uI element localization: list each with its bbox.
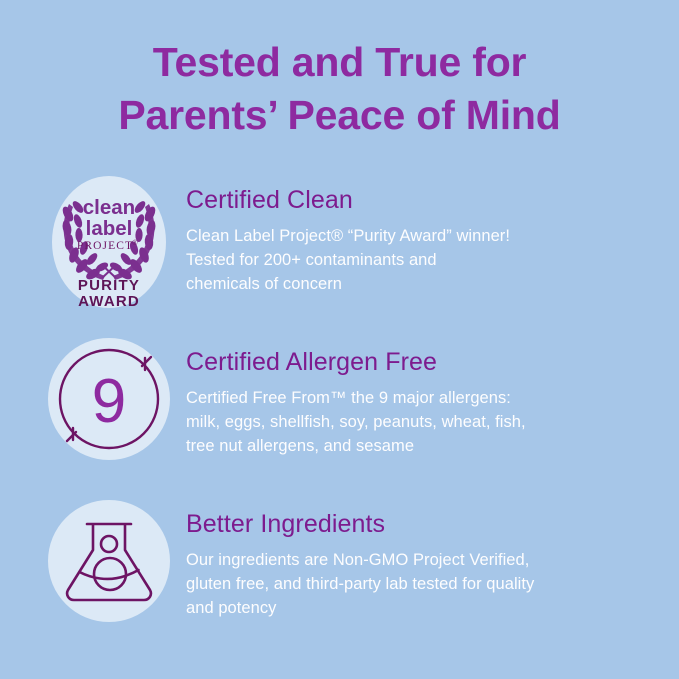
page-title: Tested and True for Parents’ Peace of Mi… [0,36,679,143]
badge-word-clean: clean [83,196,135,219]
feature-body-line: Certified Free From™ the 9 major allerge… [186,387,649,411]
nine-allergens-circle-icon: 9 [46,336,172,462]
feature-body-line: chemicals of concern [186,273,649,297]
feature-body-certified-allergen-free: Certified Free From™ the 9 major allerge… [186,387,649,459]
feature-icon-slot [44,494,174,624]
feature-body-line: and potency [186,597,649,621]
feature-list: clean label PROJECT ® PURITY AWARD Certi… [0,170,679,656]
feature-body-line: Tested for 200+ contaminants and [186,249,649,273]
feature-title-better-ingredients: Better Ingredients [186,510,649,539]
feature-icon-slot: clean label PROJECT ® PURITY AWARD [44,170,174,310]
page-title-line-2: Parents’ Peace of Mind [0,89,679,142]
feature-title-certified-clean: Certified Clean [186,186,649,215]
feature-body-line: tree nut allergens, and sesame [186,435,649,459]
feature-body-line: Clean Label Project® “Purity Award” winn… [186,225,649,249]
badge-word-label: label [86,217,133,240]
page-title-line-1: Tested and True for [0,36,679,89]
feature-body-line: Our ingredients are Non-GMO Project Veri… [186,549,649,573]
lab-flask-icon [46,498,172,624]
feature-title-certified-allergen-free: Certified Allergen Free [186,348,649,377]
clean-label-project-purity-award-badge-icon: clean label PROJECT ® PURITY AWARD [47,174,171,310]
feature-text-slot: Certified Allergen Free Certified Free F… [174,332,679,459]
feature-item-better-ingredients: Better Ingredients Our ingredients are N… [0,494,679,634]
allergen-count-number: 9 [92,367,126,436]
badge-word-project: PROJECT [77,240,133,252]
feature-item-certified-allergen-free: 9 Certified Allergen Free Certified Free… [0,332,679,472]
badge-word-purity: PURITY [78,277,140,294]
feature-body-better-ingredients: Our ingredients are Non-GMO Project Veri… [186,549,649,621]
promo-panel: Tested and True for Parents’ Peace of Mi… [0,0,679,679]
feature-item-certified-clean: clean label PROJECT ® PURITY AWARD Certi… [0,170,679,310]
feature-text-slot: Better Ingredients Our ingredients are N… [174,494,679,621]
badge-registered-mark: ® [132,239,138,247]
feature-body-line: milk, eggs, shellfish, soy, peanuts, whe… [186,411,649,435]
feature-body-certified-clean: Clean Label Project® “Purity Award” winn… [186,225,649,297]
feature-body-line: gluten free, and third-party lab tested … [186,573,649,597]
badge-word-award: AWARD [78,293,140,310]
feature-text-slot: Certified Clean Clean Label Project® “Pu… [174,170,679,297]
feature-icon-slot: 9 [44,332,174,462]
